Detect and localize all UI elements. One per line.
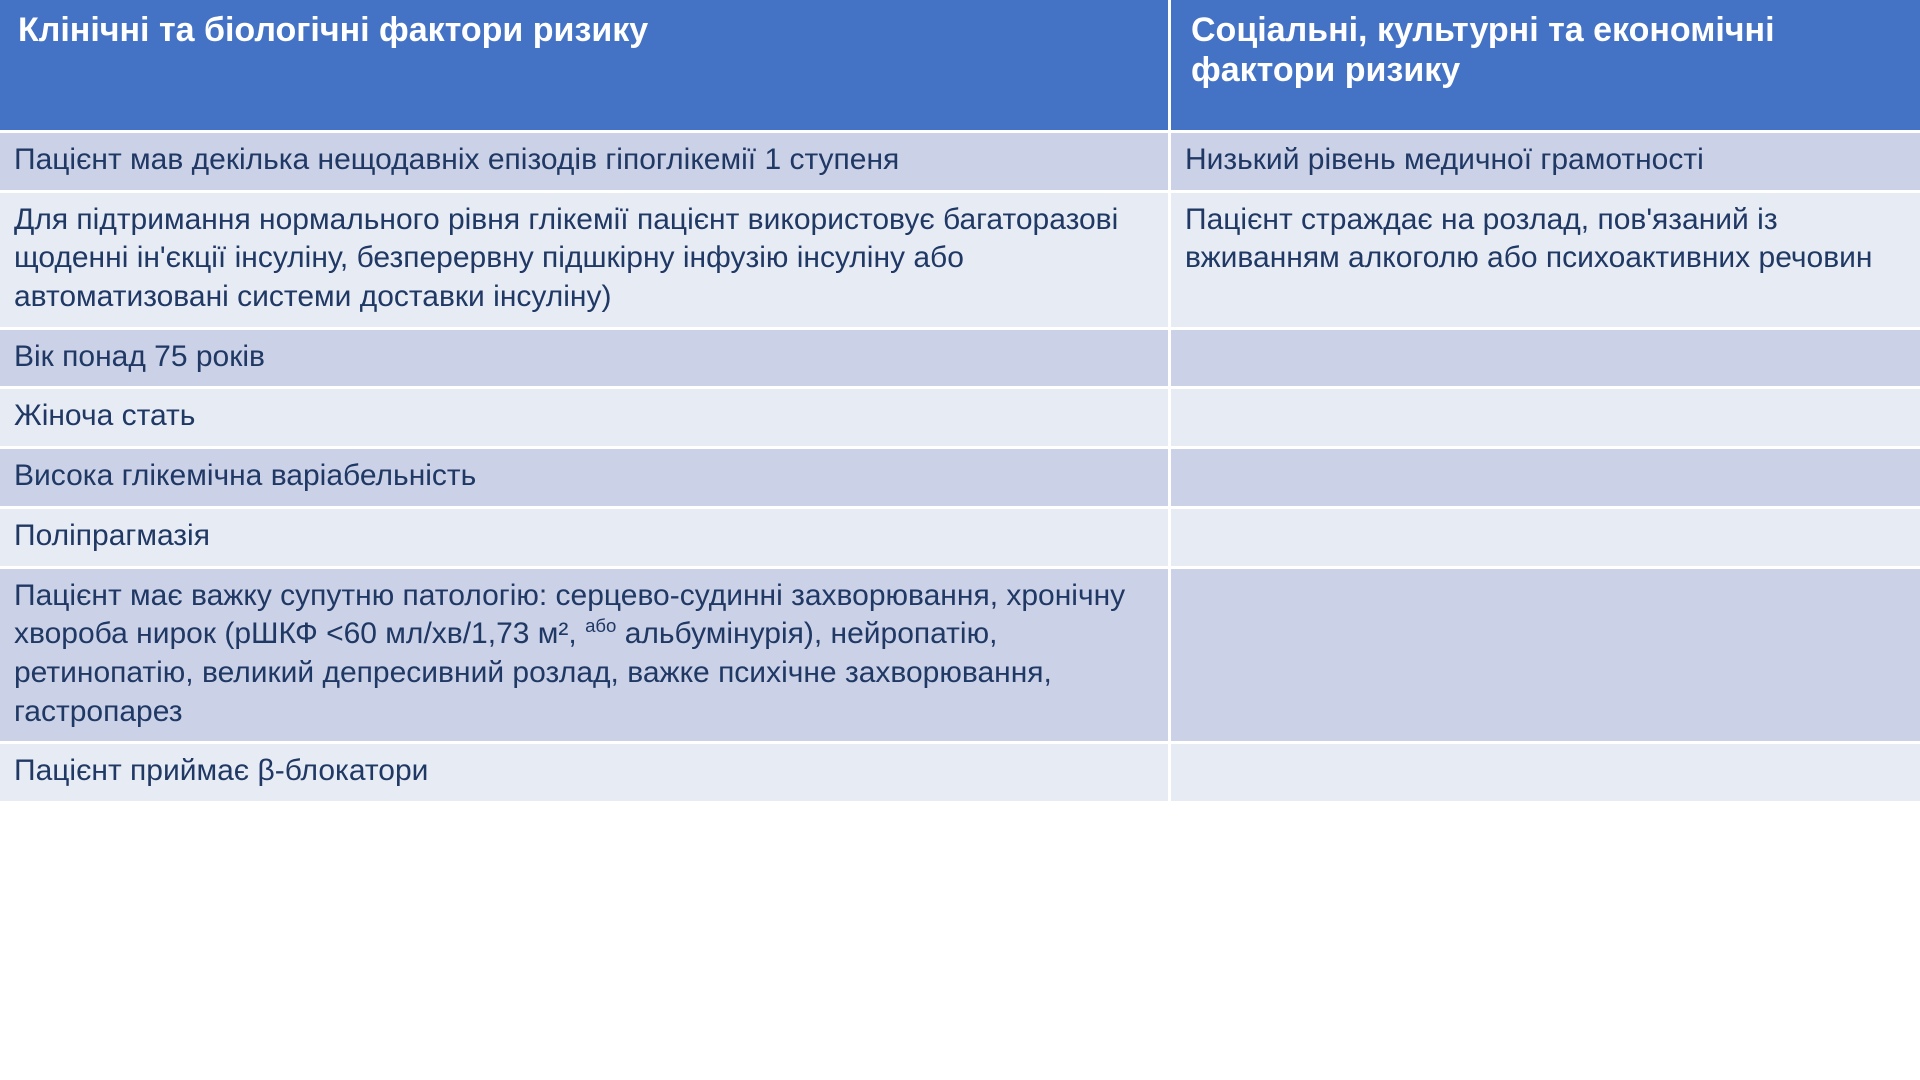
cell-clinical: Пацієнт має важку супутню патологію: сер… [0,569,1168,742]
cell-social: Низький рівень медичної грамотності [1168,133,1920,190]
table-body: Пацієнт мав декілька нещодавніх епізодів… [0,130,1920,801]
table-row: Пацієнт приймає β-блокатори [0,741,1920,801]
column-header-social: Соціальні, культурні та економічні факто… [1168,0,1920,130]
table-row: Поліпрагмазія [0,506,1920,566]
cell-clinical: Поліпрагмазія [0,509,1168,566]
superscript-text: або [585,615,616,636]
cell-clinical: Для підтримання нормального рівня глікем… [0,193,1168,327]
table-row: Пацієнт мав декілька нещодавніх епізодів… [0,130,1920,190]
table-row: Пацієнт має важку супутню патологію: сер… [0,566,1920,742]
table-row: Вік понад 75 років [0,327,1920,387]
risk-factors-table: Клінічні та біологічні фактори ризику Со… [0,0,1920,1080]
cell-social-empty [1168,449,1920,506]
cell-social-empty [1168,569,1920,742]
cell-clinical: Пацієнт приймає β-блокатори [0,744,1168,801]
cell-social: Пацієнт страждає на розлад, пов'язаний і… [1168,193,1920,327]
cell-clinical: Пацієнт мав декілька нещодавніх епізодів… [0,133,1168,190]
cell-clinical: Жіноча стать [0,389,1168,446]
table-row: Жіноча стать [0,386,1920,446]
table-row: Висока глікемічна варіабельність [0,446,1920,506]
cell-social-empty [1168,509,1920,566]
cell-social-empty [1168,744,1920,801]
cell-social-empty [1168,389,1920,446]
table-row: Для підтримання нормального рівня глікем… [0,190,1920,327]
cell-social-empty [1168,330,1920,387]
table-header-row: Клінічні та біологічні фактори ризику Со… [0,0,1920,130]
column-header-clinical: Клінічні та біологічні фактори ризику [0,0,1168,130]
cell-clinical: Вік понад 75 років [0,330,1168,387]
cell-clinical: Висока глікемічна варіабельність [0,449,1168,506]
